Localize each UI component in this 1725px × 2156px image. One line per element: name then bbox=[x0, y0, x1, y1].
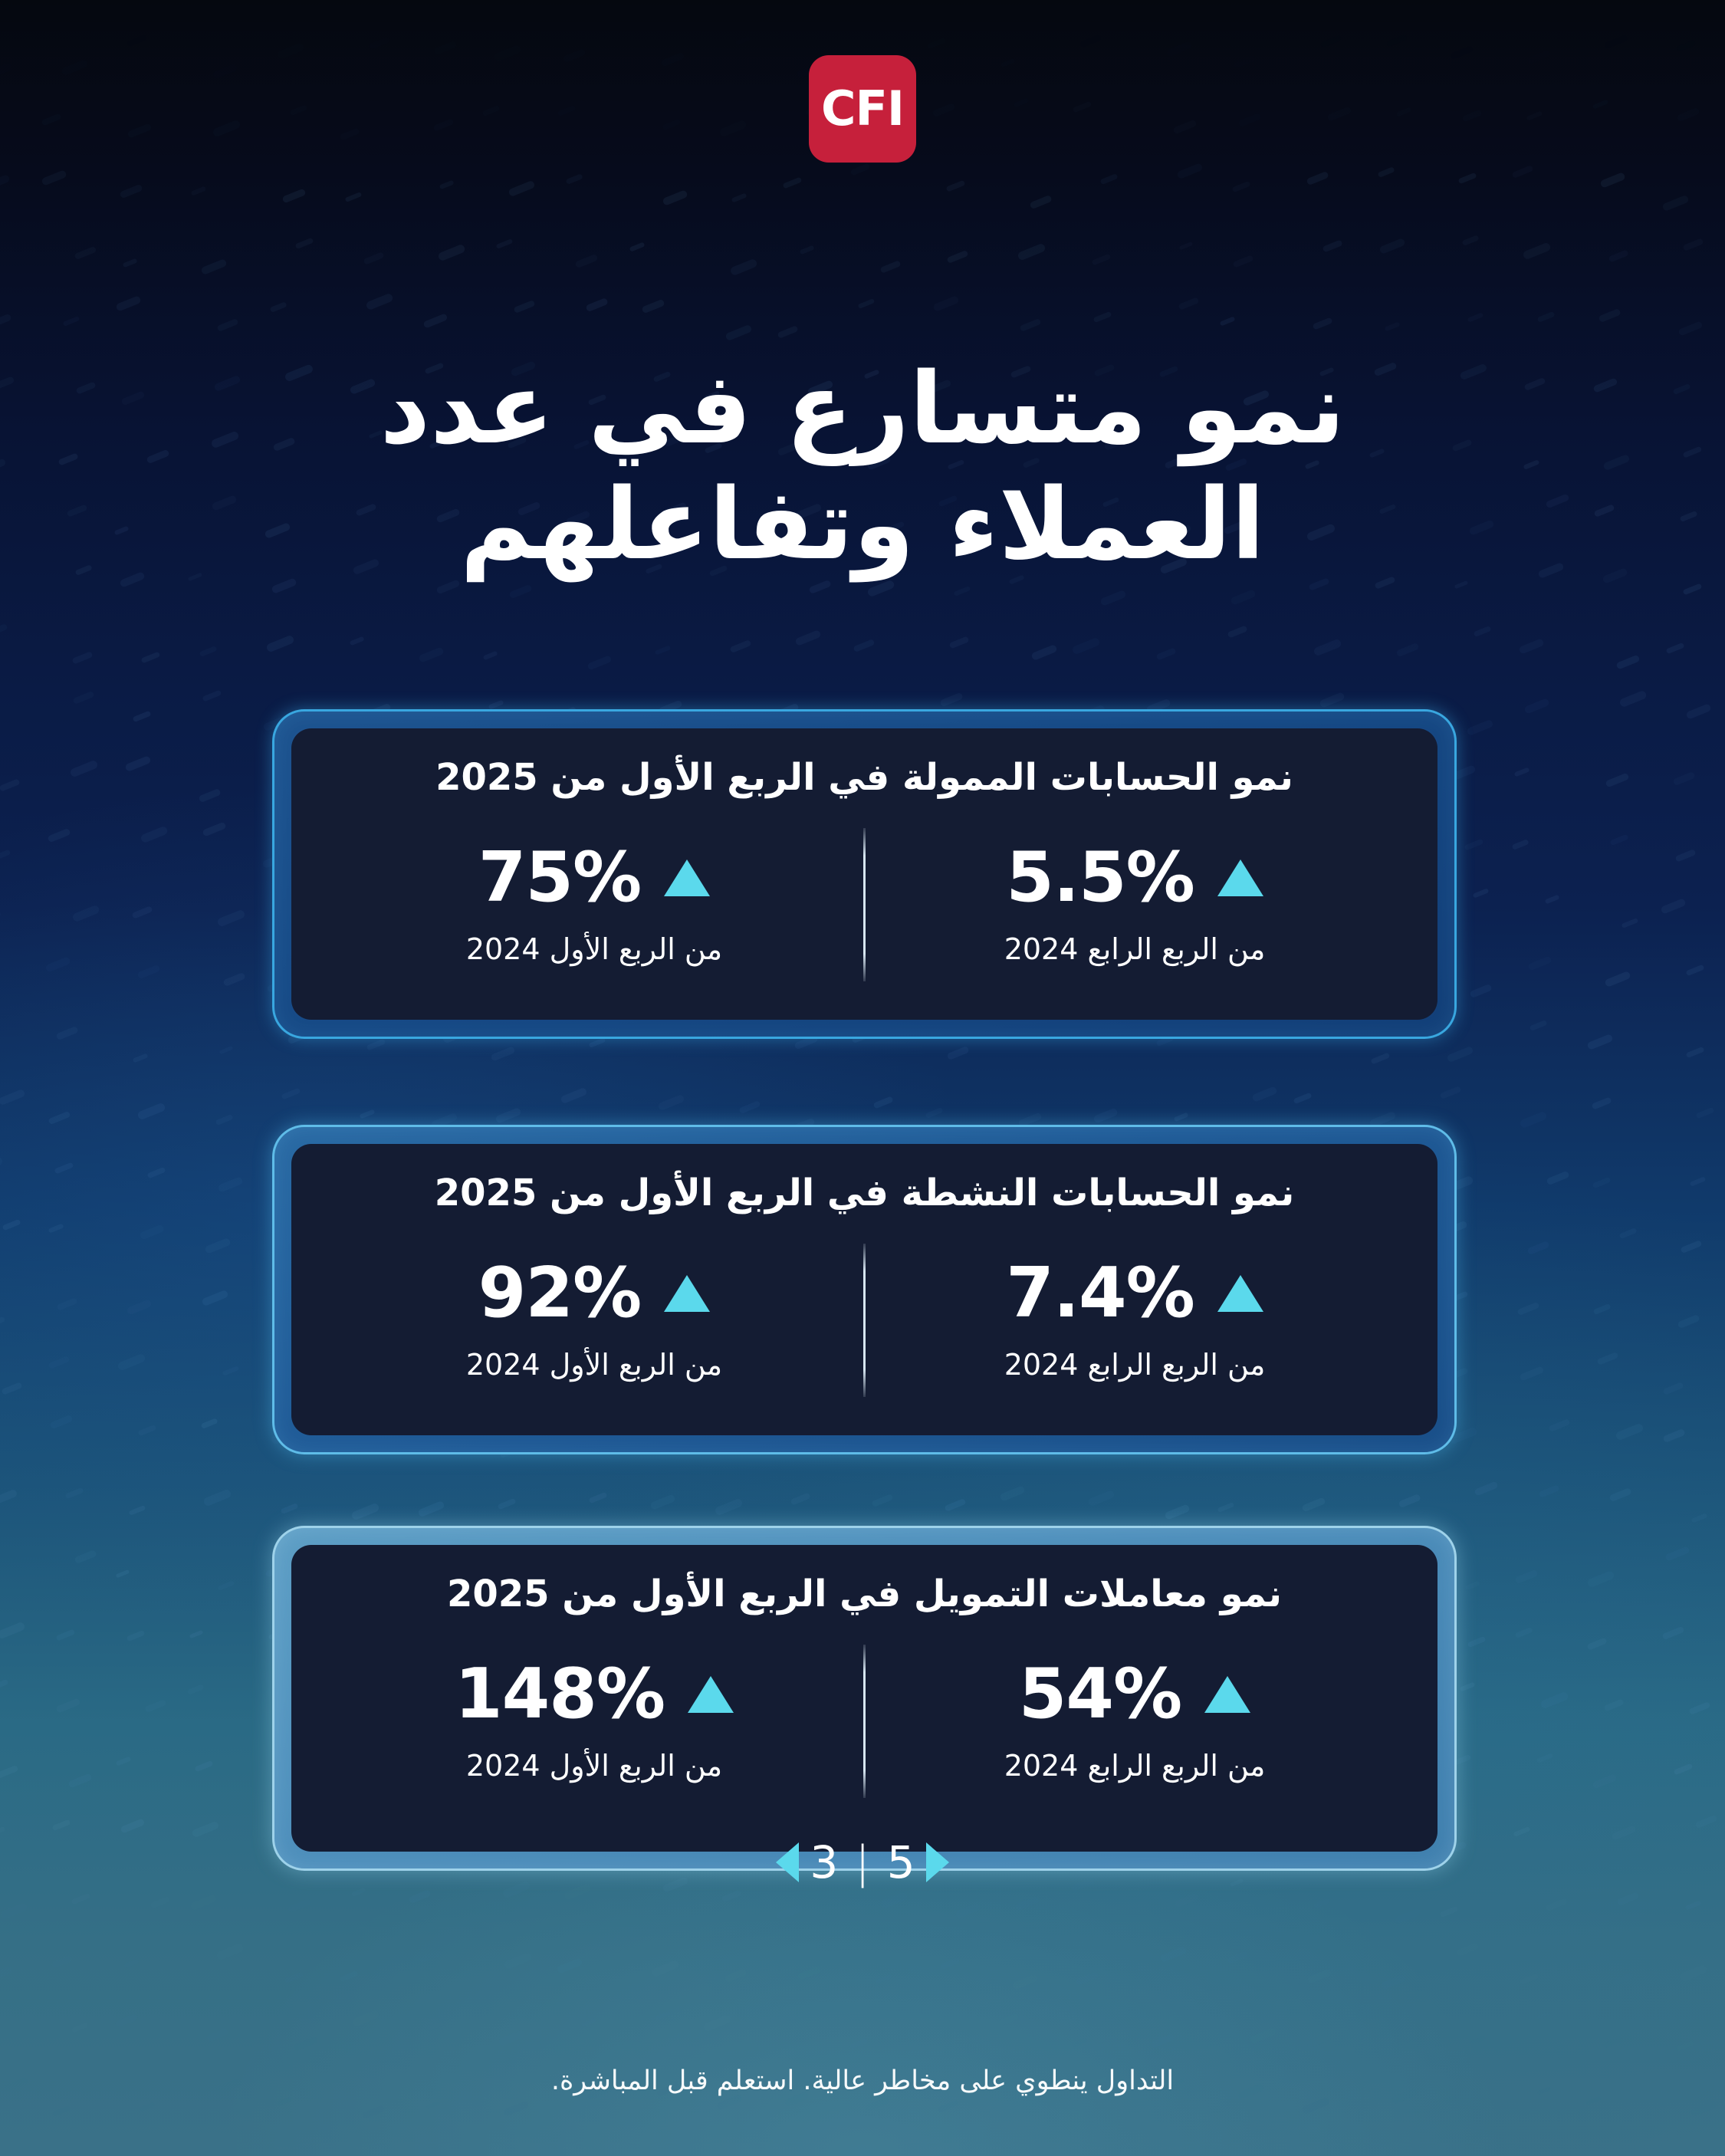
stat-yoy: 148% من الربع الأول 2024 bbox=[325, 1645, 863, 1798]
cfi-logo: CFI bbox=[809, 55, 916, 163]
stat-yoy: 92% من الربع الأول 2024 bbox=[325, 1244, 863, 1397]
stat-value: 54% bbox=[1019, 1660, 1181, 1729]
stat-caption: من الربع الأول 2024 bbox=[466, 1749, 722, 1783]
stat-card-funding-transactions: نمو معاملات التمويل في الربع الأول من 20… bbox=[272, 1526, 1457, 1871]
triangle-up-icon bbox=[664, 859, 710, 896]
page-title-line-2: العملاء وتفاعلهم bbox=[153, 467, 1572, 583]
stat-divider bbox=[863, 1645, 866, 1798]
next-slide-icon[interactable] bbox=[926, 1842, 949, 1882]
stat-caption: من الربع الرابع 2024 bbox=[1004, 1749, 1266, 1783]
stat-card-inner: نمو الحسابات النشطة في الربع الأول من 20… bbox=[291, 1144, 1437, 1435]
pager-current: 3 bbox=[810, 1840, 838, 1885]
stat-yoy: 75% من الربع الأول 2024 bbox=[325, 828, 863, 981]
stat-caption: من الربع الأول 2024 bbox=[466, 932, 722, 966]
stat-value: 5.5% bbox=[1006, 843, 1194, 912]
infographic-page: CFI نمو متسارع في عدد العملاء وتفاعلهم ن… bbox=[0, 0, 1725, 2156]
stat-caption: من الربع الرابع 2024 bbox=[1004, 1348, 1266, 1382]
slide-pagination: 3 | 5 bbox=[0, 1840, 1725, 1885]
stat-value-row: 148% bbox=[455, 1660, 734, 1729]
stat-card-funded-accounts: نمو الحسابات الممولة في الربع الأول من 2… bbox=[272, 709, 1457, 1039]
page-title-line-1: نمو متسارع في عدد bbox=[153, 351, 1572, 467]
stat-qoq: 7.4% من الربع الرابع 2024 bbox=[866, 1244, 1404, 1397]
stat-caption: من الربع الرابع 2024 bbox=[1004, 932, 1266, 966]
stat-value: 148% bbox=[455, 1660, 665, 1729]
stat-card-title: نمو معاملات التمويل في الربع الأول من 20… bbox=[447, 1571, 1282, 1617]
stat-card-active-accounts: نمو الحسابات النشطة في الربع الأول من 20… bbox=[272, 1125, 1457, 1454]
risk-disclaimer: التداول ينطوي على مخاطر عالية. استعلم قب… bbox=[0, 2066, 1725, 2096]
stat-divider bbox=[863, 1244, 866, 1397]
stat-value-row: 7.4% bbox=[1006, 1259, 1263, 1328]
stat-divider bbox=[863, 828, 866, 981]
stat-row: 5.5% من الربع الرابع 2024 75% من الربع ا… bbox=[325, 828, 1404, 981]
stat-value: 92% bbox=[478, 1259, 641, 1328]
pager-separator: | bbox=[855, 1840, 870, 1885]
pager-total: 5 bbox=[887, 1840, 915, 1885]
stat-caption: من الربع الأول 2024 bbox=[466, 1348, 722, 1382]
stat-card-inner: نمو الحسابات الممولة في الربع الأول من 2… bbox=[291, 728, 1437, 1020]
stat-value: 7.4% bbox=[1006, 1259, 1194, 1328]
stat-value: 75% bbox=[478, 843, 641, 912]
stat-card-title: نمو الحسابات الممولة في الربع الأول من 2… bbox=[435, 754, 1293, 800]
stat-value-row: 5.5% bbox=[1006, 843, 1263, 912]
stat-row: 54% من الربع الرابع 2024 148% من الربع ا… bbox=[325, 1645, 1404, 1798]
triangle-up-icon bbox=[1217, 1275, 1263, 1312]
triangle-up-icon bbox=[664, 1275, 710, 1312]
stat-qoq: 54% من الربع الرابع 2024 bbox=[866, 1645, 1404, 1798]
triangle-up-icon bbox=[688, 1676, 734, 1713]
stat-value-row: 92% bbox=[478, 1259, 710, 1328]
stat-value-row: 75% bbox=[478, 843, 710, 912]
stat-qoq: 5.5% من الربع الرابع 2024 bbox=[866, 828, 1404, 981]
cfi-logo-text: CFI bbox=[821, 85, 904, 133]
triangle-up-icon bbox=[1204, 1676, 1250, 1713]
triangle-up-icon bbox=[1217, 859, 1263, 896]
stat-row: 7.4% من الربع الرابع 2024 92% من الربع ا… bbox=[325, 1244, 1404, 1397]
stat-card-inner: نمو معاملات التمويل في الربع الأول من 20… bbox=[291, 1545, 1437, 1852]
stat-value-row: 54% bbox=[1019, 1660, 1250, 1729]
page-title: نمو متسارع في عدد العملاء وتفاعلهم bbox=[0, 351, 1725, 583]
prev-slide-icon[interactable] bbox=[776, 1842, 799, 1882]
stat-card-title: نمو الحسابات النشطة في الربع الأول من 20… bbox=[435, 1170, 1295, 1216]
